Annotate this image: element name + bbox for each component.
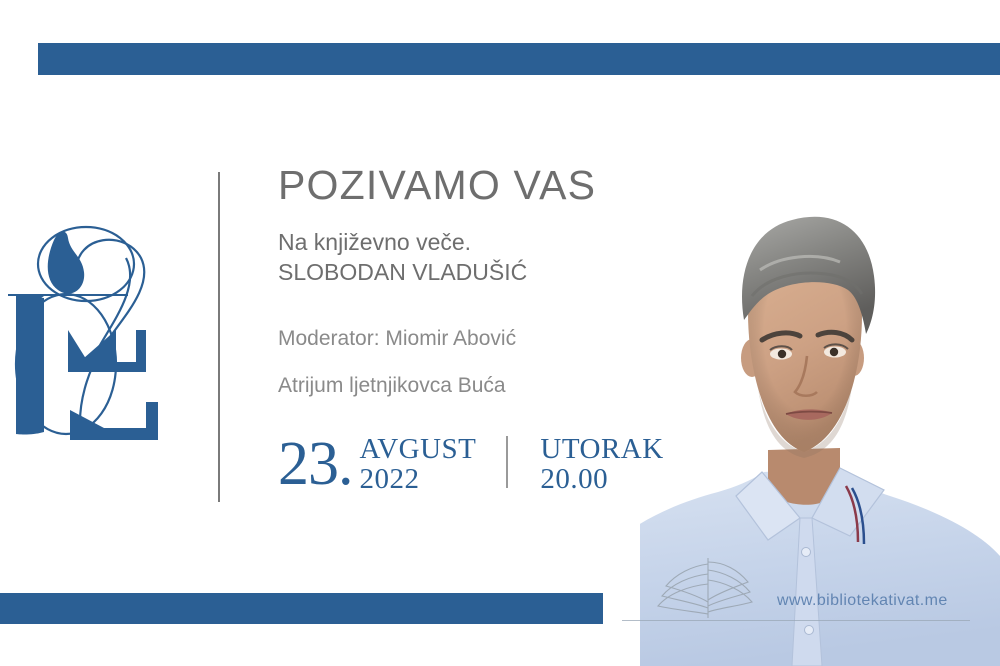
watermark-rule bbox=[622, 620, 970, 621]
event-subtitle-line2: SLOBODAN VLADUŠIĆ bbox=[278, 258, 678, 288]
date-month-year: AVGUST 2022 bbox=[360, 435, 477, 494]
top-accent-bar bbox=[38, 43, 1000, 75]
invitation-text-block: POZIVAMO VAS Na književno veče. SLOBODAN… bbox=[278, 165, 678, 396]
page-title: POZIVAMO VAS bbox=[278, 165, 678, 206]
date-year: 2022 bbox=[360, 465, 477, 495]
venue-line: Atrijum ljetnjikovca Buća bbox=[278, 375, 678, 396]
library-logo bbox=[8, 212, 178, 450]
date-month: AVGUST bbox=[360, 435, 477, 465]
bottom-accent-bar bbox=[0, 593, 603, 624]
event-subtitle-line1: Na književno veče. bbox=[278, 228, 678, 258]
vertical-divider bbox=[218, 172, 220, 502]
event-date-strip: 23. AVGUST 2022 UTORAK 20.00 bbox=[278, 428, 664, 495]
date-day: 23. bbox=[278, 434, 353, 495]
website-url[interactable]: www.bibliotekativat.me bbox=[777, 592, 948, 610]
event-subtitle: Na književno veče. SLOBODAN VLADUŠIĆ bbox=[278, 228, 678, 288]
event-invitation-poster: POZIVAMO VAS Na književno veče. SLOBODAN… bbox=[0, 0, 1000, 666]
date-separator bbox=[506, 436, 508, 488]
moderator-line: Moderator: Miomir Abović bbox=[278, 328, 678, 349]
